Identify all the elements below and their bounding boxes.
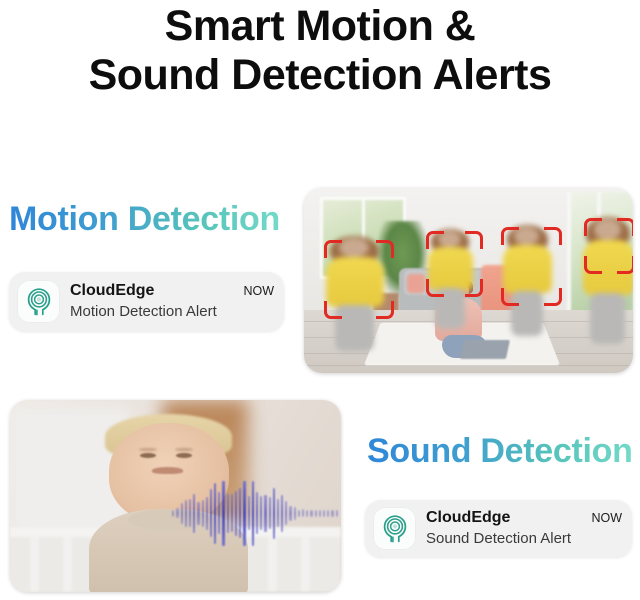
waveform-bar	[252, 481, 254, 546]
waveform-bar	[302, 509, 304, 517]
waveform-bar	[319, 510, 321, 517]
waveform-bar	[231, 494, 233, 532]
sound-notification-text: CloudEdge NOW Sound Detection Alert	[426, 508, 622, 549]
waveform-bar	[323, 510, 325, 517]
waveform-bar	[176, 508, 178, 518]
sofa-pillow	[407, 274, 426, 292]
motion-notification-card[interactable]: CloudEdge NOW Motion Detection Alert	[9, 272, 284, 331]
motion-timestamp: NOW	[243, 283, 274, 299]
waveform-bar	[281, 495, 283, 532]
page-title: Smart Motion & Sound Detection Alerts	[0, 0, 640, 100]
waveform-bar	[331, 510, 333, 517]
waveform-bar	[172, 510, 174, 517]
waveform-bar	[222, 481, 224, 546]
waveform-bar	[243, 481, 245, 546]
motion-notification-top-row: CloudEdge NOW	[70, 281, 274, 301]
sound-detection-photo	[10, 400, 341, 592]
detection-bracket	[324, 240, 342, 258]
waveform-bar	[264, 495, 266, 532]
waveform-bar	[327, 510, 329, 517]
waveform-bar	[197, 502, 199, 525]
sound-detection-heading: Sound Detection	[367, 431, 633, 471]
waveform-bar	[181, 503, 183, 524]
laptop	[460, 340, 510, 359]
detection-bracket	[376, 301, 394, 319]
detection-bracket	[501, 227, 519, 245]
waveform-bar	[306, 510, 308, 517]
detection-bracket	[426, 279, 444, 297]
sound-waveform	[172, 481, 338, 546]
detection-bracket	[465, 231, 483, 249]
detection-bracket	[324, 301, 342, 319]
motion-detection-heading: Motion Detection	[9, 199, 280, 239]
sound-alert-message: Sound Detection Alert	[426, 529, 622, 549]
waveform-bar	[189, 499, 191, 527]
waveform-bar	[310, 510, 312, 517]
waveform-bar	[277, 499, 279, 527]
waveform-bar	[336, 510, 338, 517]
sound-notification-top-row: CloudEdge NOW	[426, 508, 622, 528]
living-room-scene	[304, 188, 633, 373]
detection-bracket	[501, 288, 519, 306]
moving-figure	[580, 219, 633, 341]
motion-notification-text: CloudEdge NOW Motion Detection Alert	[70, 281, 274, 322]
waveform-bar	[218, 492, 220, 534]
waveform-bar	[248, 496, 250, 530]
nursery-scene	[10, 400, 341, 592]
waveform-bar	[256, 492, 258, 534]
waveform-bar	[273, 488, 275, 539]
waveform-bar	[185, 500, 187, 527]
detection-bracket	[544, 227, 562, 245]
sound-timestamp: NOW	[591, 510, 622, 526]
sound-notification-card[interactable]: CloudEdge NOW Sound Detection Alert	[365, 500, 632, 557]
detection-bracket	[584, 256, 602, 274]
title-line-2: Sound Detection Alerts	[0, 51, 640, 100]
waveform-bar	[206, 497, 208, 530]
detection-bracket	[617, 218, 633, 236]
motion-alert-message: Motion Detection Alert	[70, 302, 274, 322]
motion-detection-photo	[304, 188, 633, 373]
waveform-bar	[210, 489, 212, 537]
waveform-bar	[227, 494, 229, 533]
waveform-bar	[193, 494, 195, 533]
cloudedge-pin-icon	[374, 508, 415, 549]
sound-app-name: CloudEdge	[426, 508, 510, 528]
title-line-1: Smart Motion &	[0, 2, 640, 51]
waveform-bar	[294, 507, 296, 520]
waveform-bar	[269, 497, 271, 529]
detection-bracket	[376, 240, 394, 258]
waveform-bar	[260, 496, 262, 530]
detection-bracket	[465, 279, 483, 297]
waveform-bar	[298, 510, 300, 517]
waveform-bar	[289, 506, 291, 521]
waveform-bar	[235, 491, 237, 535]
waveform-bar	[239, 488, 241, 538]
motion-app-name: CloudEdge	[70, 281, 154, 301]
detection-bracket	[584, 218, 602, 236]
cloudedge-pin-icon	[18, 281, 59, 322]
waveform-bar	[285, 501, 287, 525]
detection-bracket	[617, 256, 633, 274]
detection-bracket	[426, 231, 444, 249]
waveform-bar	[214, 483, 216, 544]
waveform-bar	[315, 510, 317, 517]
waveform-bar	[202, 500, 204, 526]
detection-bracket	[544, 288, 562, 306]
